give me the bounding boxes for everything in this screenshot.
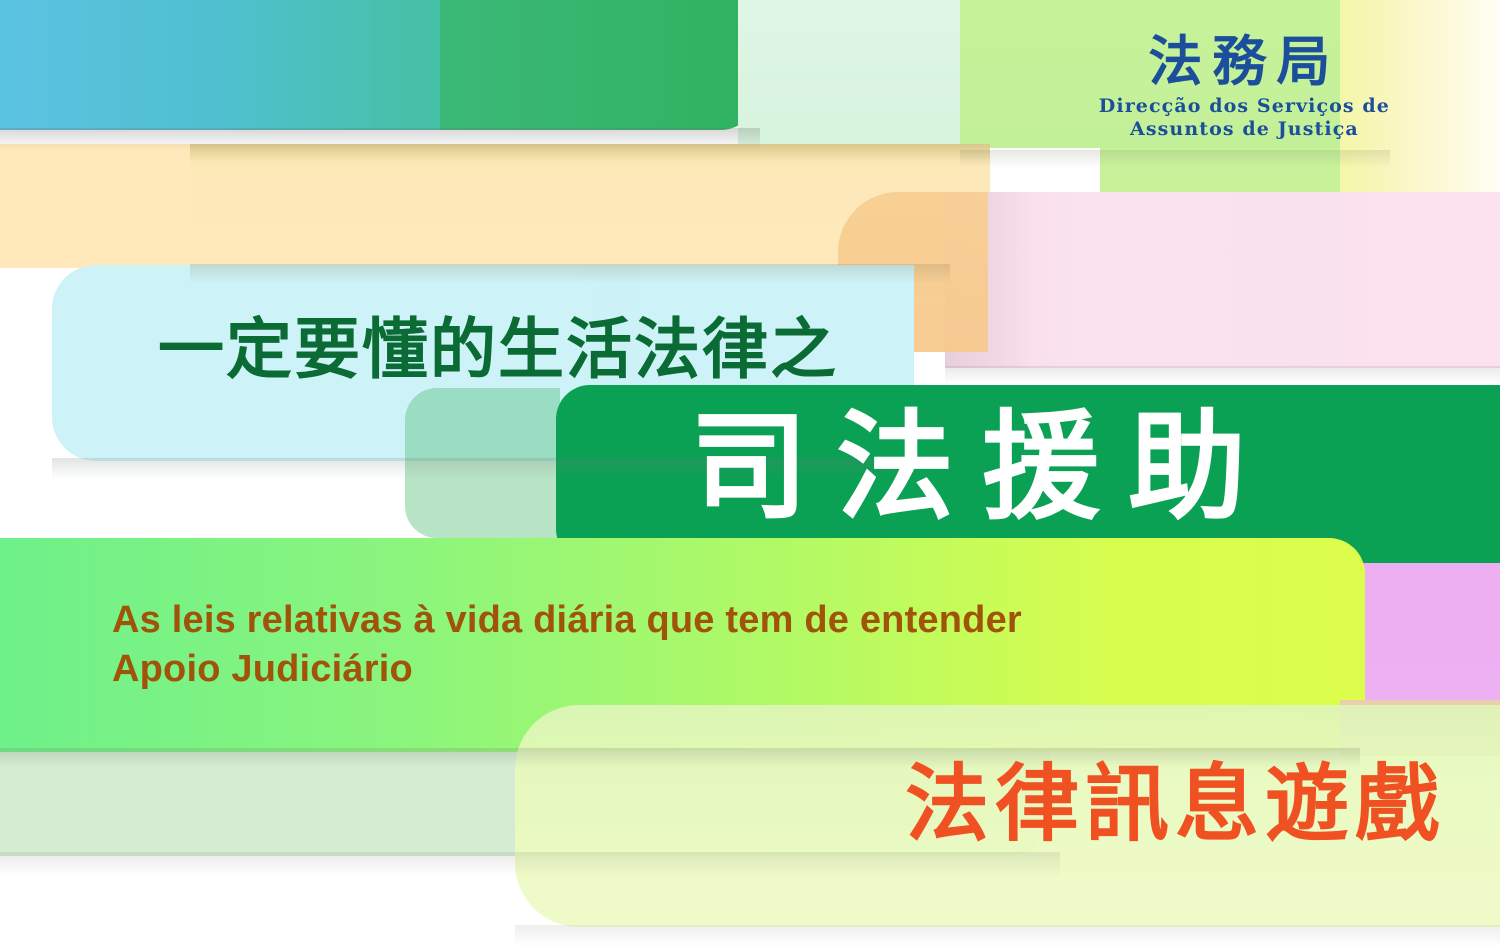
subtitle-portuguese: As leis relativas à vida diária que tem … bbox=[112, 596, 1022, 695]
logo-portuguese-line-1: Direcção dos Serviços de bbox=[1099, 95, 1390, 118]
department-logo: 法務局 Direcção dos Serviços de Assuntos de… bbox=[1099, 34, 1390, 141]
band-shadow-bottom bbox=[515, 925, 1500, 947]
headline-chinese: 一定要懂的生活法律之 bbox=[158, 296, 838, 392]
main-title-chinese: 司法援助 bbox=[690, 408, 1274, 526]
background-band-cream-top-shade bbox=[190, 144, 990, 162]
background-band-translucent-green bbox=[405, 388, 560, 538]
logo-chinese-name: 法務局 bbox=[1099, 34, 1390, 91]
logo-portuguese-line-2: Assuntos de Justiça bbox=[1099, 118, 1390, 141]
background-band-pale-green bbox=[0, 760, 530, 856]
subtitle-portuguese-line-2: Apoio Judiciário bbox=[112, 645, 1022, 694]
background-band-magenta bbox=[1355, 560, 1500, 710]
poster-canvas: 法務局 Direcção dos Serviços de Assuntos de… bbox=[0, 0, 1500, 947]
game-label-chinese: 法律訊息遊戲 bbox=[905, 762, 1445, 846]
subtitle-portuguese-line-1: As leis relativas à vida diária que tem … bbox=[112, 596, 1022, 645]
band-shadow-pink bbox=[945, 366, 1500, 384]
logo-portuguese-name: Direcção dos Serviços de Assuntos de Jus… bbox=[1099, 95, 1390, 141]
background-band-top-green bbox=[440, 0, 760, 130]
